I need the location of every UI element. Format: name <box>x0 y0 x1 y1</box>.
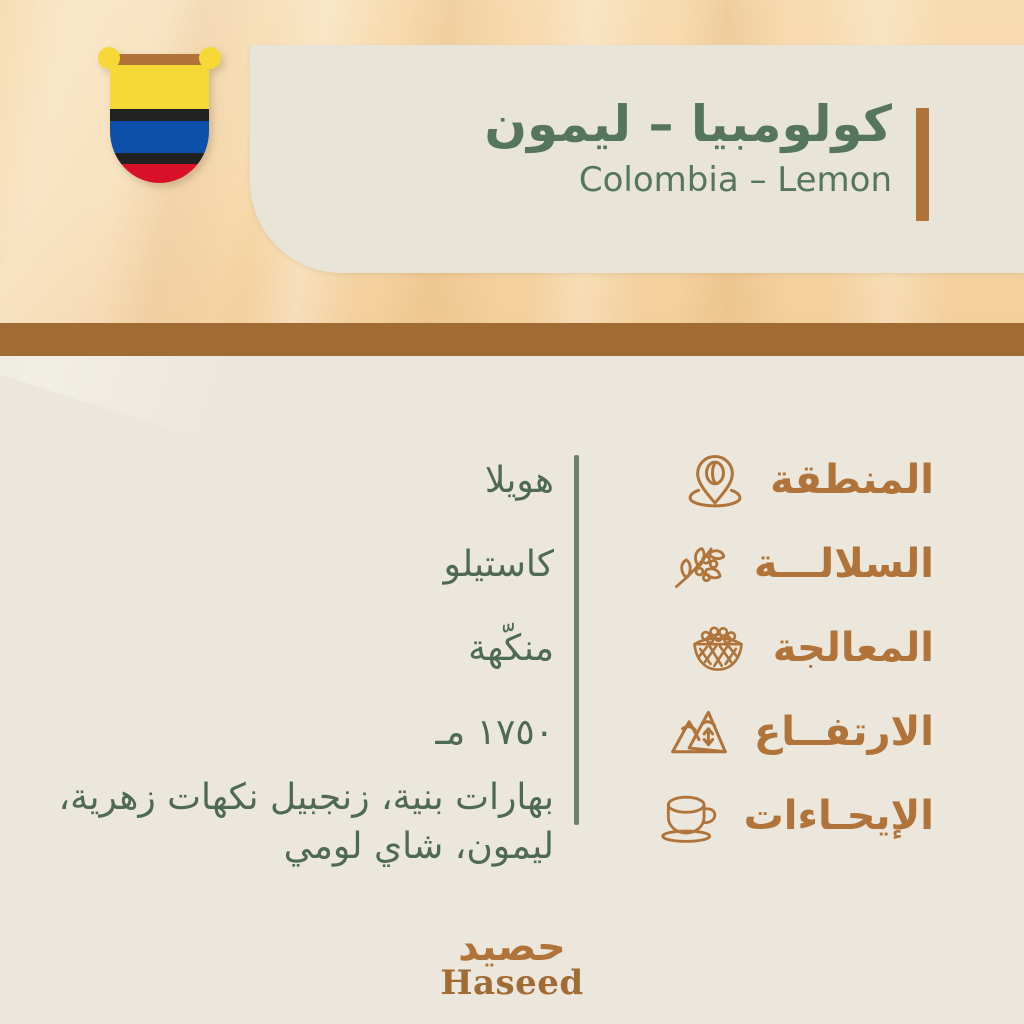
coffee-origin-card: كولومبيا – ليمون Colombia – Lemon المنطق… <box>0 0 1024 1024</box>
altitude-value: ١٧٥٠ مـ <box>435 712 554 753</box>
title-arabic: كولومبيا – ليمون <box>484 95 892 154</box>
variety-value: كاستيلو <box>443 544 554 585</box>
altitude-label-group: الارتفــاع <box>666 699 934 765</box>
header-brown-separator-band <box>0 323 1024 356</box>
mountain-altitude-icon <box>666 699 732 765</box>
coffee-cup-icon <box>656 783 722 849</box>
title-english: Colombia – Lemon <box>484 158 892 202</box>
region-label-group: المنطقة <box>682 447 934 513</box>
region-value: هويلا <box>485 460 554 501</box>
page-title: كولومبيا – ليمون Colombia – Lemon <box>484 95 892 202</box>
brand-name-english: Haseed <box>0 966 1024 1002</box>
brand-logo: حصيد Haseed <box>0 928 1024 1002</box>
altitude-label: الارتفــاع <box>754 709 934 755</box>
notes-value: بهارات بنية، زنجبيل نكهات زهرية، ليمون، … <box>34 774 554 871</box>
location-pin-coffee-bean-icon <box>682 447 748 513</box>
basket-beans-icon <box>685 615 751 681</box>
title-accent-bar <box>916 108 929 221</box>
notes-label: الإيحـاءات <box>744 793 934 839</box>
processing-label-group: المعالجة <box>685 615 934 681</box>
colombia-pennant-flag-icon <box>96 47 223 189</box>
variety-label: السلالـــة <box>754 541 934 587</box>
brand-name-arabic: حصيد <box>0 928 1024 966</box>
region-label: المنطقة <box>770 457 934 503</box>
notes-label-group: الإيحـاءات <box>656 783 934 849</box>
attributes-vertical-divider <box>574 455 579 825</box>
coffee-branch-icon <box>666 531 732 597</box>
variety-label-group: السلالـــة <box>666 531 934 597</box>
processing-label: المعالجة <box>773 625 934 671</box>
processing-value: منكّهة <box>468 628 554 669</box>
